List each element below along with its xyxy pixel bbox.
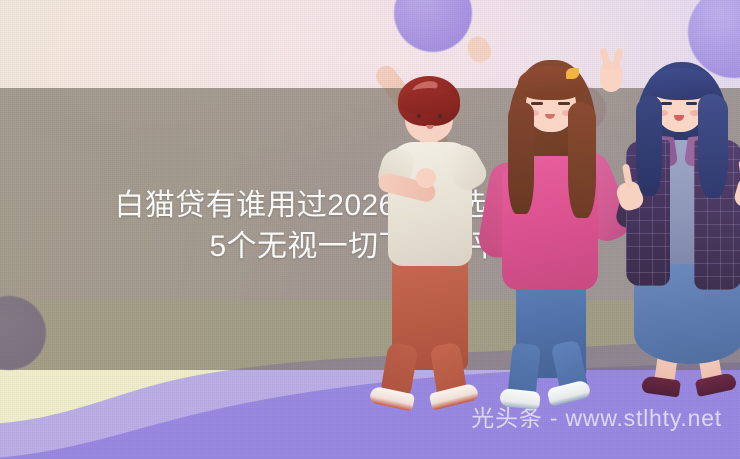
figure-left-bent-hand: [416, 168, 436, 188]
figure-left-eye-left: [417, 114, 421, 118]
figure-middle-eye-left: [531, 102, 543, 105]
figure-middle-hair-clip-icon: [566, 68, 579, 79]
article-cover-banner: 白猫贷有谁用过2026年精选，罗列5个 5个无视一切下款的平台 光头条 - ww…: [0, 0, 740, 459]
figure-left-eye-right: [438, 114, 442, 118]
figure-right-hair-left: [636, 96, 662, 196]
figure-left-fringe: [400, 88, 458, 114]
figure-right-eye-left: [661, 102, 672, 105]
figure-middle-hair-left: [508, 102, 534, 214]
figure-middle-eye-right: [558, 102, 570, 105]
figure-right-eye-right: [686, 102, 697, 105]
figure-right-hair-right: [698, 94, 728, 198]
figure-middle-hair-right: [568, 102, 596, 218]
